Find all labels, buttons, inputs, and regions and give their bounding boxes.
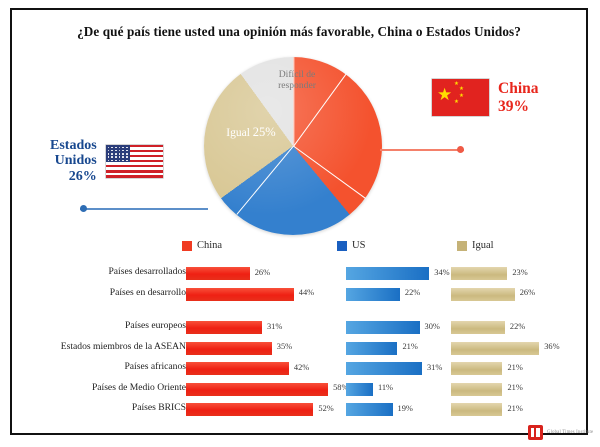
bar-igual [451,403,502,416]
bar-igual [451,362,502,375]
us-flag-star [111,156,113,158]
bar-value-us: 34% [434,268,449,277]
bar-row-label: Países africanos [0,361,186,372]
bar-us [346,321,420,334]
us-flag-star [108,150,110,152]
bar-chart-legend: China US Igual [182,240,582,256]
china-callout-value: 39% [498,98,539,115]
bar-value-igual: 23% [512,268,527,277]
us-flag-star [126,160,128,162]
bar-value-us: 22% [405,288,420,297]
legend-swatch-us [337,241,347,251]
bar-row-label: Países europeos [0,320,186,331]
bar-row-label: Países de Medio Oriente [0,382,186,393]
china-connector-line [380,149,464,151]
bar-row: Países BRICS52%19%21% [26,401,582,418]
us-flag-star [108,160,110,162]
legend-item-igual: Igual [457,240,494,251]
poster-frame: ¿De qué país tiene usted una opinión más… [10,8,588,435]
bar-value-igual: 22% [510,322,525,331]
bar-value-china: 42% [294,363,309,372]
grouped-bar-chart: Países desarrollados26%34%23%Países en d… [26,265,582,437]
us-flag-star [115,156,117,158]
bar-row-label: Países BRICS [0,402,186,413]
bar-value-china: 52% [318,404,333,413]
legend-label-us: US [352,240,365,251]
china-callout-name: China [498,80,539,97]
pie-divider [293,57,294,146]
legend-swatch-igual [457,241,467,251]
us-flag-star [119,156,121,158]
gti-logo-icon [528,425,543,440]
legend-swatch-china [182,241,192,251]
us-connector-dot [80,205,87,212]
bar-value-igual: 26% [520,288,535,297]
bar-value-igual: 21% [507,383,522,392]
us-flag-star [111,150,113,152]
bar-us [346,342,397,355]
callout-us: Estados Unidos 26% [50,138,163,184]
bar-us [346,362,422,375]
us-connector-line [80,208,208,210]
callout-china: ★ ★ ★ ★ ★ China 39% [432,79,539,116]
us-flag-star [122,160,124,162]
us-flag-star [126,153,128,155]
bar-value-china: 31% [267,322,282,331]
us-callout-name-2: Unidos [50,153,97,168]
china-flag-icon: ★ ★ ★ ★ ★ [432,79,489,116]
us-callout-text: Estados Unidos 26% [50,138,97,184]
page-title: ¿De qué país tiene usted una opinión más… [12,24,586,40]
us-flag-star [115,153,117,155]
bar-value-china: 44% [299,288,314,297]
us-flag-star [111,147,113,149]
bar-china [186,267,250,280]
china-callout-text: China 39% [498,80,539,114]
bar-us [346,403,393,416]
us-flag-star [111,160,113,162]
bar-us [346,267,429,280]
gti-logo: Global Times Institute [528,425,593,440]
bar-igual [451,267,507,280]
bar-row: Países en desarrollo44%22%26% [26,286,582,303]
gti-logo-text: Global Times Institute [547,430,593,435]
us-flag-star [122,147,124,149]
bar-china [186,362,289,375]
us-flag-star [122,150,124,152]
bar-value-igual: 21% [507,363,522,372]
bar-value-china: 26% [255,268,270,277]
bar-value-us: 30% [425,322,440,331]
bar-row: Países desarrollados26%34%23% [26,265,582,282]
bar-value-us: 21% [402,342,417,351]
legend-label-igual: Igual [472,240,494,251]
us-callout-name-1: Estados [50,138,97,153]
us-flag-star [126,156,128,158]
bar-row-label: Países en desarrollo [0,287,186,298]
bar-china [186,288,294,301]
us-flag-star [126,150,128,152]
us-flag-star [108,147,110,149]
us-flag-star [115,147,117,149]
legend-item-us: US [337,240,365,251]
bar-us [346,383,373,396]
us-flag-star [122,156,124,158]
us-flag-star [119,150,121,152]
us-flag-star [108,153,110,155]
us-flag-star [122,153,124,155]
legend-item-china: China [182,240,222,251]
bar-china [186,342,272,355]
bar-igual [451,342,539,355]
us-flag-star [126,147,128,149]
us-flag-star [115,150,117,152]
us-flag-star [115,160,117,162]
bar-value-igual: 21% [507,404,522,413]
bar-china [186,403,313,416]
bar-row: Países africanos42%31%21% [26,360,582,377]
bar-row: Estados miembros de la ASEAN35%21%36% [26,340,582,357]
bar-us [346,288,400,301]
bar-igual [451,383,502,396]
us-callout-value: 26% [50,169,97,184]
us-flag-star [119,153,121,155]
us-flag-icon [106,145,163,178]
bar-value-us: 19% [398,404,413,413]
us-flag-star [111,153,113,155]
bar-value-china: 35% [277,342,292,351]
bar-value-us: 31% [427,363,442,372]
us-flag-star [119,160,121,162]
bar-igual [451,321,505,334]
legend-label-china: China [197,240,222,251]
bar-row-label: Países desarrollados [0,266,186,277]
china-connector-dot [457,146,464,153]
us-flag-star [119,147,121,149]
pie-chart: Igual 25% Difícil de responder [204,57,382,235]
bar-row-label: Estados miembros de la ASEAN [0,341,186,352]
us-flag-star [108,156,110,158]
bar-value-us: 11% [378,383,393,392]
bar-china [186,383,328,396]
bar-row: Países europeos31%30%22% [26,319,582,336]
bar-igual [451,288,515,301]
bar-china [186,321,262,334]
bar-row: Países de Medio Oriente58%11%21% [26,381,582,398]
bar-value-igual: 36% [544,342,559,351]
